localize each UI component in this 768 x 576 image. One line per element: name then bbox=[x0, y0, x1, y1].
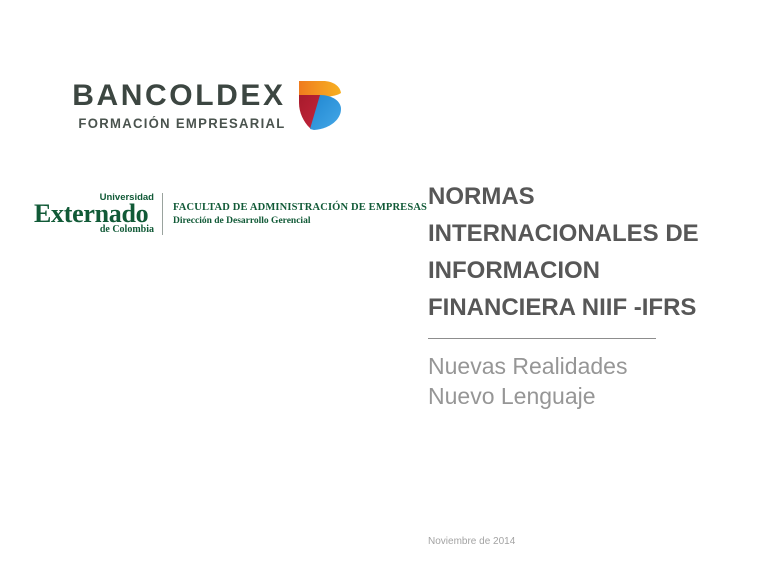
bancoldex-name: BANCOLDEX bbox=[72, 80, 285, 112]
title-block: NORMAS INTERNACIONALES DE INFORMACION FI… bbox=[428, 178, 728, 411]
slide-title-line-3: INFORMACION bbox=[428, 252, 728, 289]
slide-subtitle-line-1: Nuevas Realidades bbox=[428, 351, 728, 381]
externado-de-colombia-label: de Colombia bbox=[100, 224, 154, 236]
externado-faculty-name: FACULTAD DE ADMINISTRACIÓN DE EMPRESAS bbox=[173, 201, 427, 215]
externado-vertical-divider bbox=[162, 193, 163, 235]
externado-faculty-block: FACULTAD DE ADMINISTRACIÓN DE EMPRESAS D… bbox=[173, 192, 427, 236]
presentation-title-slide: BANCOLDEX FORMACIÓN EMPRESARIAL bbox=[0, 0, 768, 576]
slide-title-line-4: FINANCIERA NIIF -IFRS bbox=[428, 289, 728, 326]
bancoldex-wordmark: BANCOLDEX FORMACIÓN EMPRESARIAL bbox=[72, 78, 286, 132]
slide-subtitle: Nuevas Realidades Nuevo Lenguaje bbox=[428, 351, 728, 411]
bancoldex-mark-icon bbox=[297, 79, 343, 131]
externado-logo: Universidad Externado de Colombia FACULT… bbox=[34, 192, 427, 236]
externado-wordmark: Universidad Externado de Colombia bbox=[34, 192, 154, 236]
slide-subtitle-line-2: Nuevo Lenguaje bbox=[428, 381, 728, 411]
externado-faculty-department: Dirección de Desarrollo Gerencial bbox=[173, 215, 427, 228]
slide-date: Noviembre de 2014 bbox=[428, 535, 515, 549]
bancoldex-logo: BANCOLDEX FORMACIÓN EMPRESARIAL bbox=[72, 78, 343, 132]
bancoldex-tagline: FORMACIÓN EMPRESARIAL bbox=[78, 116, 285, 132]
slide-title-line-1: NORMAS bbox=[428, 178, 728, 215]
title-divider bbox=[428, 338, 656, 339]
slide-title-line-2: INTERNACIONALES DE bbox=[428, 215, 728, 252]
slide-title: NORMAS INTERNACIONALES DE INFORMACION FI… bbox=[428, 178, 728, 326]
